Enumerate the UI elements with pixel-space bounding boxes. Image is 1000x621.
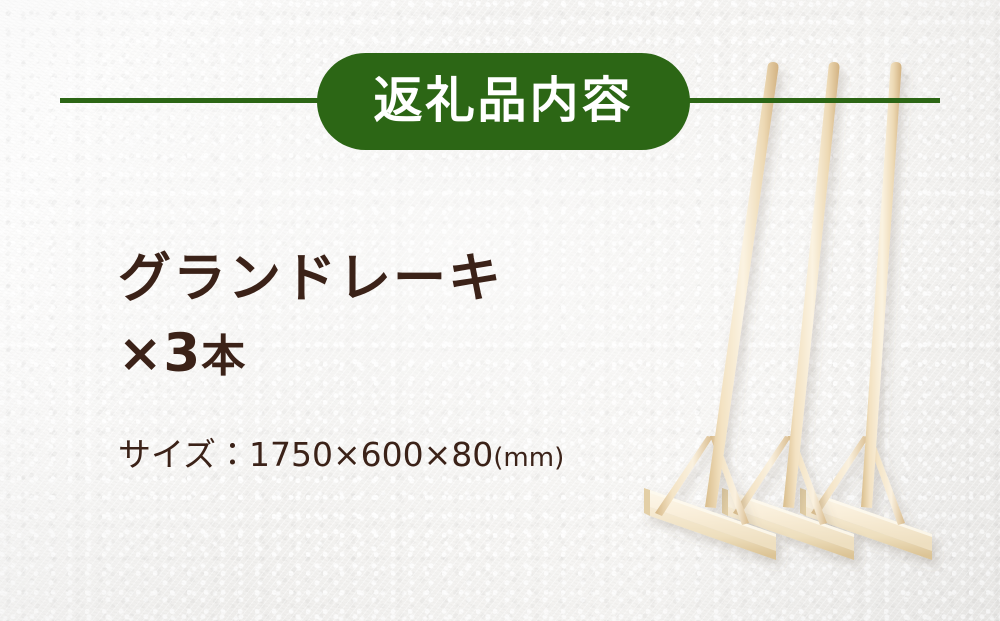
product-text-block: グランドレーキ ×3本 bbox=[118, 248, 503, 385]
section-badge: 返礼品内容 bbox=[317, 53, 690, 150]
size-unit: (mm) bbox=[493, 443, 564, 473]
product-quantity: ×3本 bbox=[118, 323, 503, 386]
product-size-line: サイズ：1750×600×80(mm) bbox=[118, 428, 564, 476]
promo-card: 返礼品内容 グランドレーキ ×3本 サイズ：1750×600×80(mm) bbox=[0, 0, 1000, 621]
section-badge-label: 返礼品内容 bbox=[373, 76, 633, 125]
size-value: 1750×600×80 bbox=[249, 435, 493, 474]
quantity-unit: 本 bbox=[201, 331, 246, 382]
quantity-number: ×3 bbox=[118, 323, 201, 384]
size-label: サイズ： bbox=[118, 435, 249, 474]
product-title: グランドレーキ bbox=[118, 248, 503, 311]
